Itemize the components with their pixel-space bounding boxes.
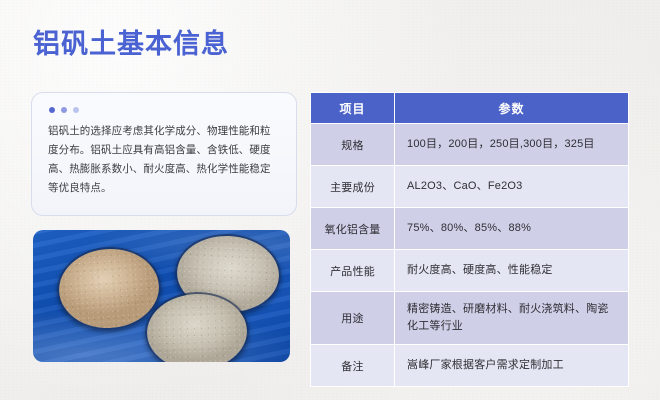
table-row: 产品性能 耐火度高、硬度高、性能稳定 <box>311 250 629 292</box>
row-param-value: 精密铸造、研磨材料、耐火浇筑料、陶瓷化工等行业 <box>395 292 629 345</box>
specification-table: 项目 参数 规格 100目，200目，250目,300目，325目 主要成份 A… <box>310 92 629 387</box>
dot-1-icon <box>49 107 55 113</box>
row-item-label: 备注 <box>311 345 395 387</box>
row-item-label: 主要成份 <box>311 166 395 208</box>
dot-3-icon <box>73 107 79 113</box>
table-row: 规格 100目，200目，250目,300目，325目 <box>311 124 629 166</box>
table-row: 氧化铝含量 75%、80%、85%、88% <box>311 208 629 250</box>
table-header-row: 项目 参数 <box>311 93 629 124</box>
column-header-param: 参数 <box>395 93 629 124</box>
row-param-value: AL2O3、CaO、Fe2O3 <box>395 166 629 208</box>
bauxite-product-photo <box>33 230 290 362</box>
page-title: 铝矾土基本信息 <box>33 27 229 61</box>
row-item-label: 氧化铝含量 <box>311 208 395 250</box>
card-dots-decoration <box>49 107 280 113</box>
row-item-label: 用途 <box>311 292 395 345</box>
intro-card: 铝矾土的选择应考虑其化学成分、物理性能和粒度分布。铝矾土应具有高铝含量、含铁低、… <box>31 92 297 216</box>
row-param-value: 100目，200目，250目,300目，325目 <box>395 124 629 166</box>
column-header-item: 项目 <box>311 93 395 124</box>
table-row: 用途 精密铸造、研磨材料、耐火浇筑料、陶瓷化工等行业 <box>311 292 629 345</box>
table-row: 主要成份 AL2O3、CaO、Fe2O3 <box>311 166 629 208</box>
row-param-value: 嵩峰厂家根据客户需求定制加工 <box>395 345 629 387</box>
row-item-label: 规格 <box>311 124 395 166</box>
row-param-value: 75%、80%、85%、88% <box>395 208 629 250</box>
row-item-label: 产品性能 <box>311 250 395 292</box>
slide-root: 铝矾土基本信息 铝矾土的选择应考虑其化学成分、物理性能和粒度分布。铝矾土应具有高… <box>0 0 660 400</box>
row-param-value: 耐火度高、硬度高、性能稳定 <box>395 250 629 292</box>
table-row: 备注 嵩峰厂家根据客户需求定制加工 <box>311 345 629 387</box>
dot-2-icon <box>61 107 67 113</box>
intro-paragraph: 铝矾土的选择应考虑其化学成分、物理性能和粒度分布。铝矾土应具有高铝含量、含铁低、… <box>48 122 280 198</box>
